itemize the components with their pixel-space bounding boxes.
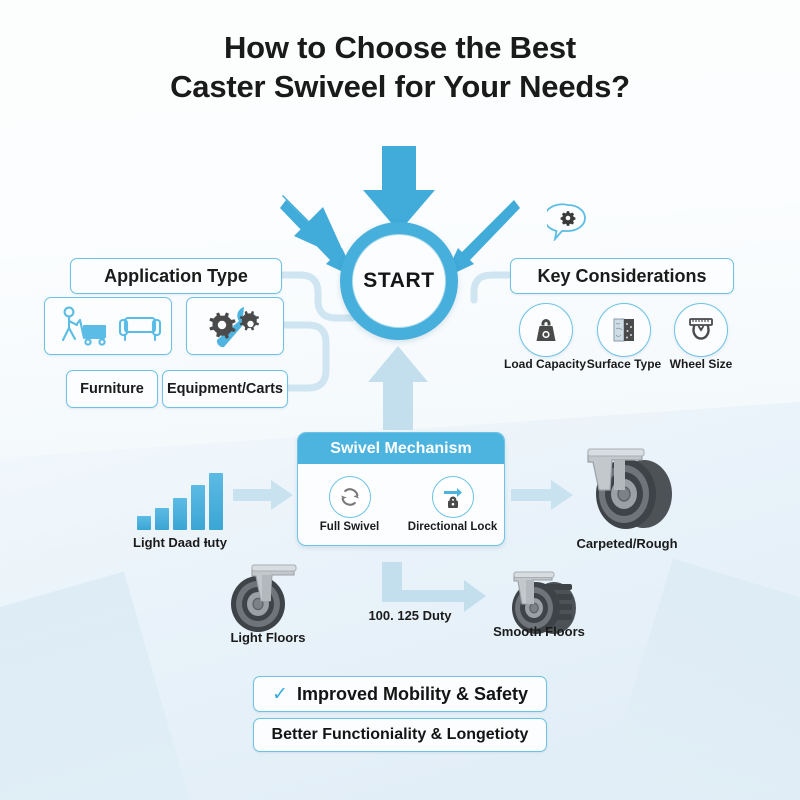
key-consideration-load-capacity-label: Load Capacity <box>501 357 589 371</box>
caster-wheel-icon <box>566 444 686 532</box>
split-surface-texture-icon <box>609 315 639 345</box>
caster-smooth-floors-label: Smooth Floors <box>480 624 598 639</box>
caster-wheel-icon <box>222 562 314 634</box>
outcome-better-functionality[interactable]: Better Functioniality & Longetioty <box>253 718 547 752</box>
application-icon-box-equipment[interactable] <box>186 297 284 355</box>
key-considerations-title-box[interactable]: Key Considerations <box>510 258 734 294</box>
option-furniture[interactable]: Furniture <box>66 370 158 408</box>
swivel-option-full-swivel[interactable]: Full Swivel <box>298 464 401 545</box>
weight-icon <box>531 315 561 345</box>
directional-lock-label: Directional Lock <box>408 521 497 533</box>
start-inner-ring <box>352 234 446 328</box>
swivel-option-directional-lock[interactable]: Directional Lock <box>401 464 504 545</box>
key-consideration-wheel-size-label: Wheel Size <box>664 357 738 371</box>
chart-bar <box>137 516 151 530</box>
caster-carpeted-rough-label: Carpeted/Rough <box>556 536 698 551</box>
key-considerations-label: Key Considerations <box>537 266 706 287</box>
check-icon: ✓ <box>272 685 288 704</box>
key-consideration-surface-type[interactable] <box>597 303 651 357</box>
caster-light-floors-label: Light Floors <box>214 630 322 645</box>
duty-note-label: 100. 125 Duty <box>345 608 475 623</box>
duty-bar-chart <box>137 468 223 530</box>
duty-bar-chart-label: Light Daad Ɨuty <box>118 535 242 550</box>
application-type-label: Application Type <box>104 266 248 287</box>
full-swivel-icon-circle <box>329 476 371 518</box>
swivel-mechanism-header: Swivel Mechanism <box>298 433 504 464</box>
chart-bar <box>209 473 223 530</box>
chart-bar <box>173 498 187 530</box>
chart-bar <box>155 508 169 530</box>
option-equipment-carts[interactable]: Equipment/Carts <box>162 370 288 408</box>
full-swivel-label: Full Swivel <box>320 521 379 533</box>
directional-lock-icon-circle <box>432 476 474 518</box>
caliper-ruler-icon <box>685 315 717 345</box>
circular-arrows-icon <box>338 485 362 509</box>
page-title: How to Choose the Best Caster Swiveel fo… <box>0 28 800 106</box>
swivel-mechanism-card[interactable]: Swivel Mechanism Full Swivel <box>297 432 505 546</box>
key-consideration-load-capacity[interactable] <box>519 303 573 357</box>
chart-bar <box>191 485 205 530</box>
swivel-mechanism-title: Swivel Mechanism <box>330 440 471 458</box>
page-title-line1: How to Choose the Best <box>0 28 800 67</box>
option-equipment-carts-label: Equipment/Carts <box>167 381 283 397</box>
key-consideration-wheel-size[interactable] <box>674 303 728 357</box>
page-title-line2: Caster Swiveel for Your Needs? <box>0 67 800 106</box>
gear-speech-bubble <box>547 203 589 241</box>
key-consideration-surface-type-label: Surface Type <box>583 357 665 371</box>
application-type-title-box[interactable]: Application Type <box>70 258 282 294</box>
gear-speech-bubble-icon <box>547 203 589 241</box>
outcome-better-functionality-label: Better Functioniality & Longetioty <box>272 726 529 744</box>
gears-wrench-icon <box>196 303 274 349</box>
swivel-mechanism-body: Full Swivel Directional Lock <box>298 464 504 545</box>
application-icon-box-furniture[interactable] <box>44 297 172 355</box>
worker-handtruck-sofa-icon <box>53 304 163 348</box>
caster-carpeted-rough <box>566 444 686 532</box>
outcome-improved-mobility-label: Improved Mobility & Safety <box>297 684 528 705</box>
infographic-canvas: How to Choose the Best Caster Swiveel fo… <box>0 0 800 800</box>
arrow-padlock-icon <box>440 485 466 509</box>
option-furniture-label: Furniture <box>80 381 144 397</box>
outcome-improved-mobility[interactable]: ✓ Improved Mobility & Safety <box>253 676 547 712</box>
caster-light-floors <box>222 562 314 634</box>
start-node[interactable]: START <box>340 222 458 340</box>
